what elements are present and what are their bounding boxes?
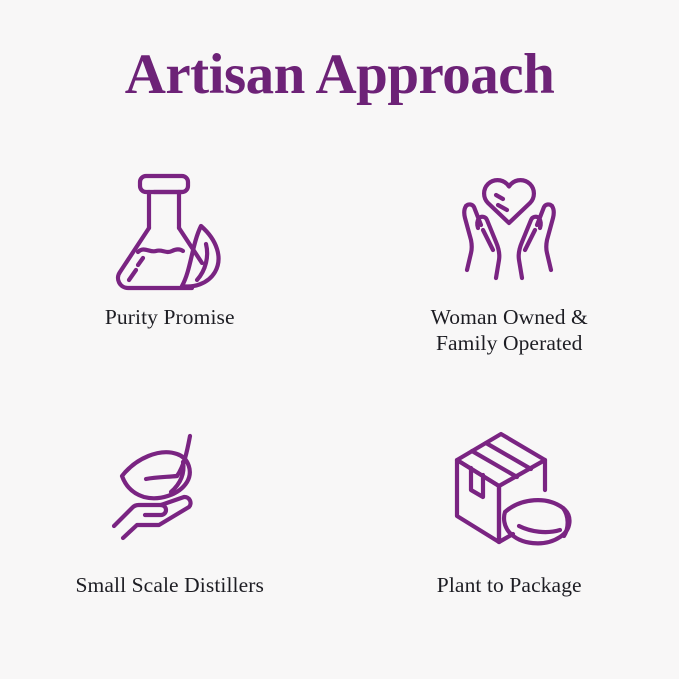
feature-label: Small Scale Distillers xyxy=(75,572,264,598)
hands-heart-icon xyxy=(434,158,584,298)
artisan-approach-panel: Artisan Approach xyxy=(0,0,679,679)
feature-label: Purity Promise xyxy=(105,304,235,330)
page-title: Artisan Approach xyxy=(0,44,679,106)
feature-label: Plant to Package xyxy=(437,572,582,598)
feature-plant-to-package: Plant to Package xyxy=(340,400,679,650)
feature-woman-owned: Woman Owned & Family Operated xyxy=(340,150,679,400)
feature-purity-promise: Purity Promise xyxy=(0,150,340,400)
flask-leaf-icon xyxy=(95,158,245,298)
feature-grid: Purity Promise xyxy=(0,150,679,650)
box-leaf-icon xyxy=(434,418,584,558)
feature-label: Woman Owned & Family Operated xyxy=(431,304,588,356)
feature-small-scale-distillers: Small Scale Distillers xyxy=(0,400,340,650)
hand-leaf-icon xyxy=(95,418,245,558)
